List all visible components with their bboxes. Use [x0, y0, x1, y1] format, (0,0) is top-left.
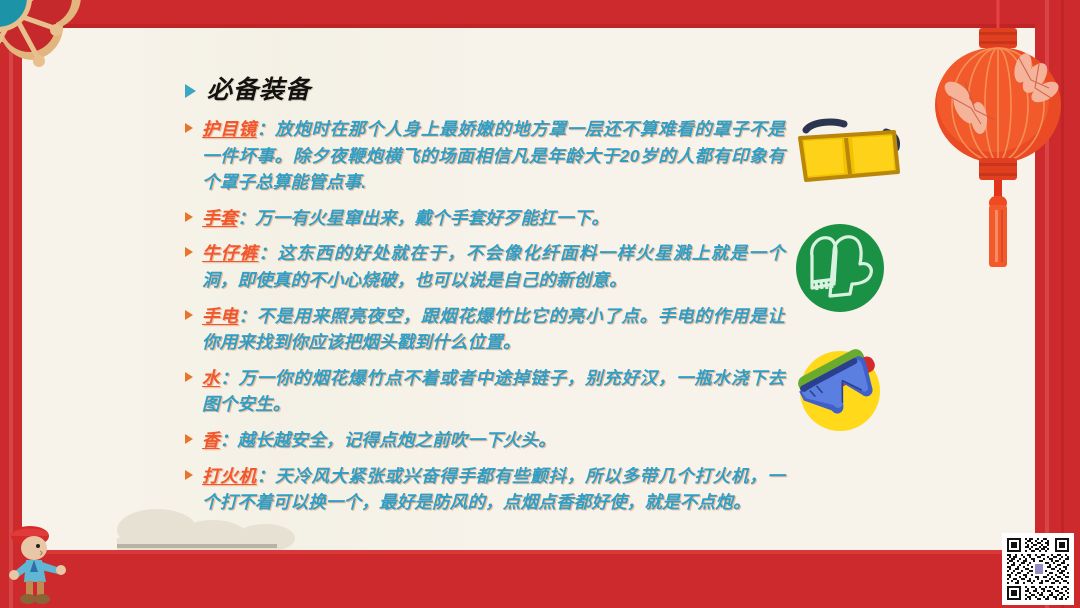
list-item-text: 放炮时在那个人身上最娇嫩的地方罩一层还不算难看的罩子不是一件坏事。除夕夜鞭炮横飞…: [202, 119, 785, 192]
page-title-text: 必备装备: [207, 78, 311, 103]
list-item-text: 不是用来照亮夜空，跟烟花爆竹比它的亮小了点。手电的作用是让你用来找到你应该把烟头…: [202, 306, 785, 353]
equipment-list: 护目镜：放炮时在那个人身上最娇嫩的地方罩一层还不算难看的罩子不是一件坏事。除夕夜…: [185, 116, 785, 516]
list-item-body: 手套：万一有火星窜出来，戴个手套好歹能扛一下。: [202, 205, 609, 232]
list-item: 打火机：天冷风大紧张或兴奋得手都有些颤抖，所以多带几个打火机，一个打不着可以换一…: [185, 463, 785, 516]
list-item-colon: ：: [237, 208, 255, 228]
list-item-colon: ：: [220, 368, 238, 388]
list-item-text: 天冷风大紧张或兴奋得手都有些颤抖，所以多带几个打火机，一个打不着可以换一个，最好…: [202, 466, 785, 513]
triangle-right-icon: [185, 434, 193, 444]
list-item-text: 万一有火星窜出来，戴个手套好歹能扛一下。: [255, 208, 609, 228]
list-item-text: 这东西的好处就在于，不会像化纤面料一样火星溅上就是一个洞，即使真的不小心烧破，也…: [202, 243, 785, 290]
triangle-right-icon: [185, 123, 193, 133]
triangle-right-icon: [185, 212, 193, 222]
list-item-body: 打火机：天冷风大紧张或兴奋得手都有些颤抖，所以多带几个打火机，一个打不着可以换一…: [202, 463, 785, 516]
list-item-body: 牛仔裤：这东西的好处就在于，不会像化纤面料一样火星溅上就是一个洞，即使真的不小心…: [202, 240, 785, 293]
list-item-headword: 牛仔裤: [202, 243, 259, 263]
list-item-text: 万一你的烟花爆竹点不着或者中途掉链子，别充好汉，一瓶水浇下去图个安生。: [202, 368, 785, 415]
list-item-headword: 手套: [202, 208, 237, 228]
list-item-body: 护目镜：放炮时在那个人身上最娇嫩的地方罩一层还不算难看的罩子不是一件坏事。除夕夜…: [202, 116, 785, 196]
list-item-headword: 水: [202, 368, 220, 388]
list-item-colon: ：: [257, 466, 275, 486]
list-item-colon: ：: [220, 430, 238, 450]
triangle-right-icon: [185, 84, 196, 98]
list-item-headword: 打火机: [202, 466, 257, 486]
list-item-body: 香：越长越安全，记得点炮之前吹一下火头。: [202, 427, 556, 454]
list-item-headword: 护目镜: [202, 119, 257, 139]
safety-goggles-image: [782, 110, 932, 200]
frame-bottom-border: [0, 550, 1080, 608]
list-item-text: 越长越安全，记得点炮之前吹一下火头。: [237, 430, 556, 450]
jeans-image: [782, 341, 932, 438]
page-title: 必备装备: [185, 78, 785, 103]
triangle-right-icon: [185, 372, 193, 382]
list-item: 牛仔裤：这东西的好处就在于，不会像化纤面料一样火星溅上就是一个洞，即使真的不小心…: [185, 240, 785, 293]
list-item-colon: ：: [238, 306, 256, 326]
list-item: 手套：万一有火星窜出来，戴个手套好歹能扛一下。: [185, 205, 785, 232]
list-item-colon: ：: [257, 119, 275, 139]
list-item-body: 手电：不是用来照亮夜空，跟烟花爆竹比它的亮小了点。手电的作用是让你用来找到你应该…: [202, 303, 785, 356]
red-lantern-icon: [935, 0, 1075, 290]
triangle-right-icon: [185, 310, 193, 320]
list-item: 水：万一你的烟花爆竹点不着或者中途掉链子，别充好汉，一瓶水浇下去图个安生。: [185, 365, 785, 418]
worker-mascot-icon: [4, 520, 70, 606]
list-item-colon: ：: [259, 243, 278, 263]
gloves-badge-image: [782, 222, 932, 319]
list-item: 香：越长越安全，记得点炮之前吹一下火头。: [185, 427, 785, 454]
list-item: 手电：不是用来照亮夜空，跟烟花爆竹比它的亮小了点。手电的作用是让你用来找到你应该…: [185, 303, 785, 356]
list-item-headword: 香: [202, 430, 220, 450]
triangle-right-icon: [185, 470, 193, 480]
content-block: 必备装备 护目镜：放炮时在那个人身上最娇嫩的地方罩一层还不算难看的罩子不是一件坏…: [185, 78, 785, 525]
picture-column: [782, 110, 932, 460]
slide-root: 必备装备 护目镜：放炮时在那个人身上最娇嫩的地方罩一层还不算难看的罩子不是一件坏…: [0, 0, 1080, 608]
list-item-headword: 手电: [202, 306, 238, 326]
list-item-body: 水：万一你的烟花爆竹点不着或者中途掉链子，别充好汉，一瓶水浇下去图个安生。: [202, 365, 785, 418]
flower-ornament-icon: [0, 0, 92, 92]
triangle-right-icon: [185, 247, 193, 257]
qr-code-image[interactable]: [1002, 533, 1074, 605]
frame-top-border: [0, 0, 1080, 28]
list-item: 护目镜：放炮时在那个人身上最娇嫩的地方罩一层还不算难看的罩子不是一件坏事。除夕夜…: [185, 116, 785, 196]
